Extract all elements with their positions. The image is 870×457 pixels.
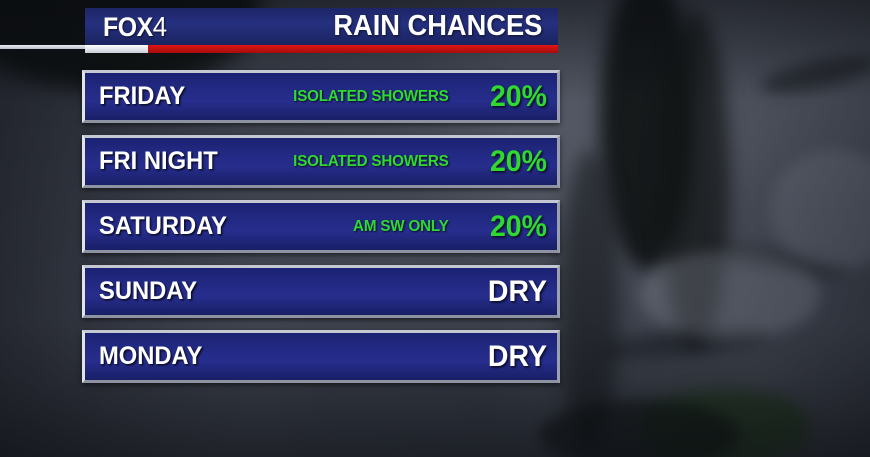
forecast-row: SUNDAYDRY	[82, 265, 560, 318]
forecast-row: FRIDAYISOLATED SHOWERS20%	[82, 70, 560, 123]
stripe-red-segment	[148, 45, 558, 53]
forecast-condition-label: ISOLATED SHOWERS	[294, 154, 449, 170]
forecast-day-label: FRI NIGHT	[99, 149, 218, 174]
forecast-row: SATURDAYAM SW ONLY20%	[82, 200, 560, 253]
forecast-row-list: FRIDAYISOLATED SHOWERS20%FRI NIGHTISOLAT…	[82, 70, 560, 383]
forecast-value: 20%	[467, 82, 547, 112]
fox-4-logo: FOX4	[103, 13, 167, 41]
header-bar: FOX4 RAIN CHANCES	[85, 8, 558, 45]
forecast-value: 20%	[467, 212, 547, 242]
forecast-day-label: FRIDAY	[99, 84, 185, 109]
forecast-row: FRI NIGHTISOLATED SHOWERS20%	[82, 135, 560, 188]
page-title: RAIN CHANCES	[333, 12, 542, 41]
forecast-day-label: SUNDAY	[99, 279, 197, 304]
header-accent-stripe	[85, 45, 558, 53]
broadcast-screen: FOX4 RAIN CHANCES FRIDAYISOLATED SHOWERS…	[0, 0, 870, 457]
forecast-condition-label: AM SW ONLY	[353, 219, 449, 235]
forecast-row: MONDAYDRY	[82, 330, 560, 383]
left-divider-rule	[0, 45, 92, 49]
forecast-condition-label: ISOLATED SHOWERS	[294, 89, 449, 105]
forecast-day-label: MONDAY	[99, 344, 202, 369]
forecast-value: DRY	[467, 342, 547, 372]
stripe-white-segment	[85, 45, 148, 53]
forecast-value: DRY	[467, 277, 547, 307]
logo-fox-text: FOX	[103, 12, 153, 42]
forecast-value: 20%	[467, 147, 547, 177]
logo-channel-number: 4	[153, 11, 167, 42]
forecast-day-label: SATURDAY	[99, 214, 227, 239]
